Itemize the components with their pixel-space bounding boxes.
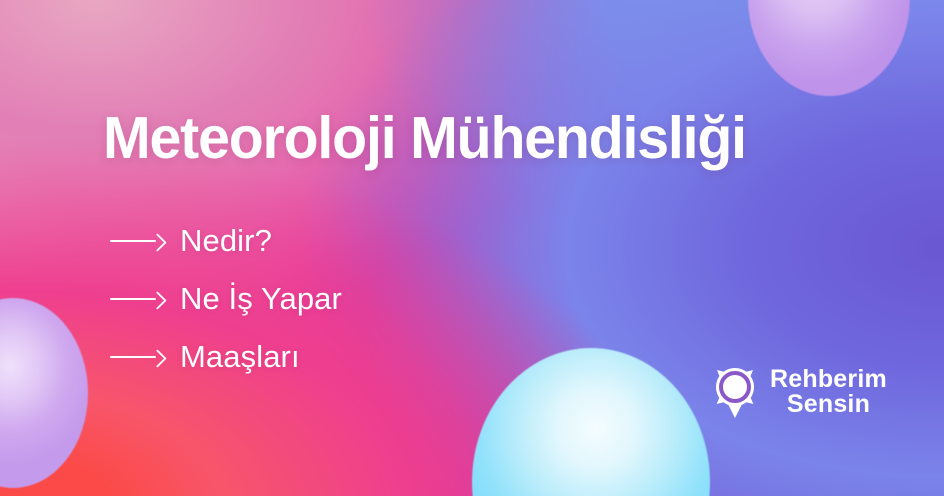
list-item[interactable]: Ne İş Yapar (110, 270, 342, 328)
brand-logo[interactable]: Rehberim Sensin (712, 364, 887, 420)
promo-banner: Meteoroloji Mühendisliği Nedir? Ne İş Ya… (0, 0, 944, 496)
page-title: Meteoroloji Mühendisliği (103, 108, 746, 170)
arrow-right-icon (110, 348, 166, 366)
list-item-label: Nedir? (180, 223, 272, 259)
arrow-right-icon (110, 290, 166, 308)
list-item[interactable]: Maaşları (110, 328, 342, 386)
list-item[interactable]: Nedir? (110, 212, 342, 270)
arrow-right-icon (110, 232, 166, 250)
lavender-sphere-bottom-left (0, 298, 88, 488)
map-pin-compass-icon (712, 364, 758, 420)
list-item-label: Maaşları (180, 339, 300, 375)
lavender-sphere-top-right (748, 0, 910, 96)
brand-logo-text: Rehberim Sensin (770, 367, 887, 417)
list-item-label: Ne İş Yapar (180, 281, 342, 317)
cyan-sphere-bottom-center (472, 348, 710, 496)
topic-list: Nedir? Ne İş Yapar Maaşları (110, 212, 342, 386)
brand-logo-line2: Sensin (770, 392, 887, 417)
brand-logo-line1: Rehberim (770, 367, 887, 392)
